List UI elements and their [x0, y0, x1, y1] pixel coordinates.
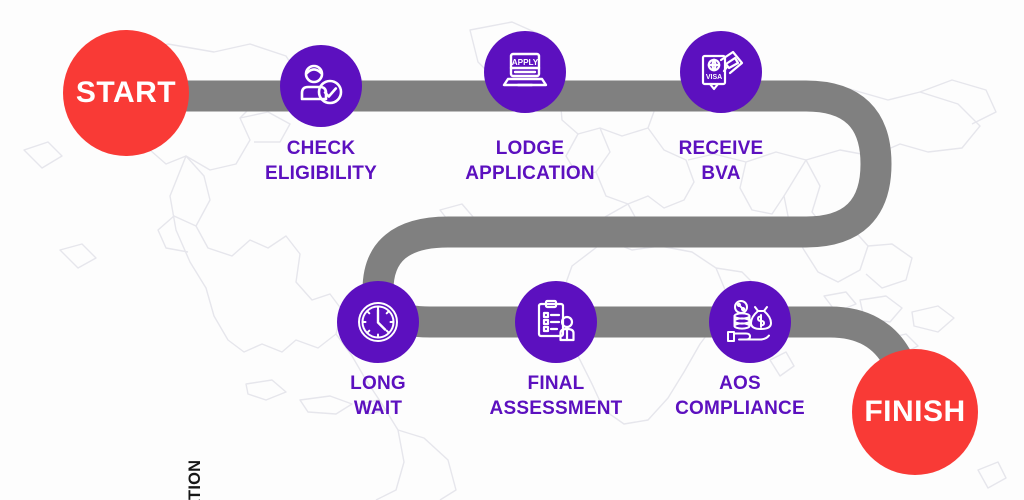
step-5-label: FINAL ASSESSMENT [466, 371, 646, 421]
laptop-apply-icon[interactable]: APPLY [484, 31, 566, 113]
visa-passport-ticket-icon[interactable]: VISA [680, 31, 762, 113]
step-2-label: LODGE APPLICATION [445, 136, 615, 186]
finish-label: FINISH [864, 395, 965, 429]
laptop-apply-text: APPLY [512, 58, 539, 67]
clipboard-checklist-person-icon[interactable] [515, 281, 597, 363]
person-check-icon[interactable] [280, 45, 362, 127]
title-block: 804 VISA STEP-BY-STEP APPLICATION [62, 218, 182, 480]
start-marker-icon[interactable]: START [63, 30, 189, 156]
step-1-label: CHECK ELIGIBILITY [241, 136, 401, 186]
step-4-label: LONG WAIT [298, 371, 458, 421]
passport-visa-text: VISA [706, 74, 722, 81]
finish-marker-icon[interactable]: FINISH [852, 349, 978, 475]
infographic-canvas: START CHECK ELIGIBILITY [0, 0, 1024, 500]
clock-icon[interactable] [337, 281, 419, 363]
hand-coins-money-bag-icon[interactable] [709, 281, 791, 363]
start-label: START [76, 76, 176, 110]
page-subtitle: STEP-BY-STEP APPLICATION [186, 460, 205, 500]
step-3-label: RECEIVE BVA [641, 136, 801, 186]
step-6-label: AOS COMPLIANCE [650, 371, 830, 421]
